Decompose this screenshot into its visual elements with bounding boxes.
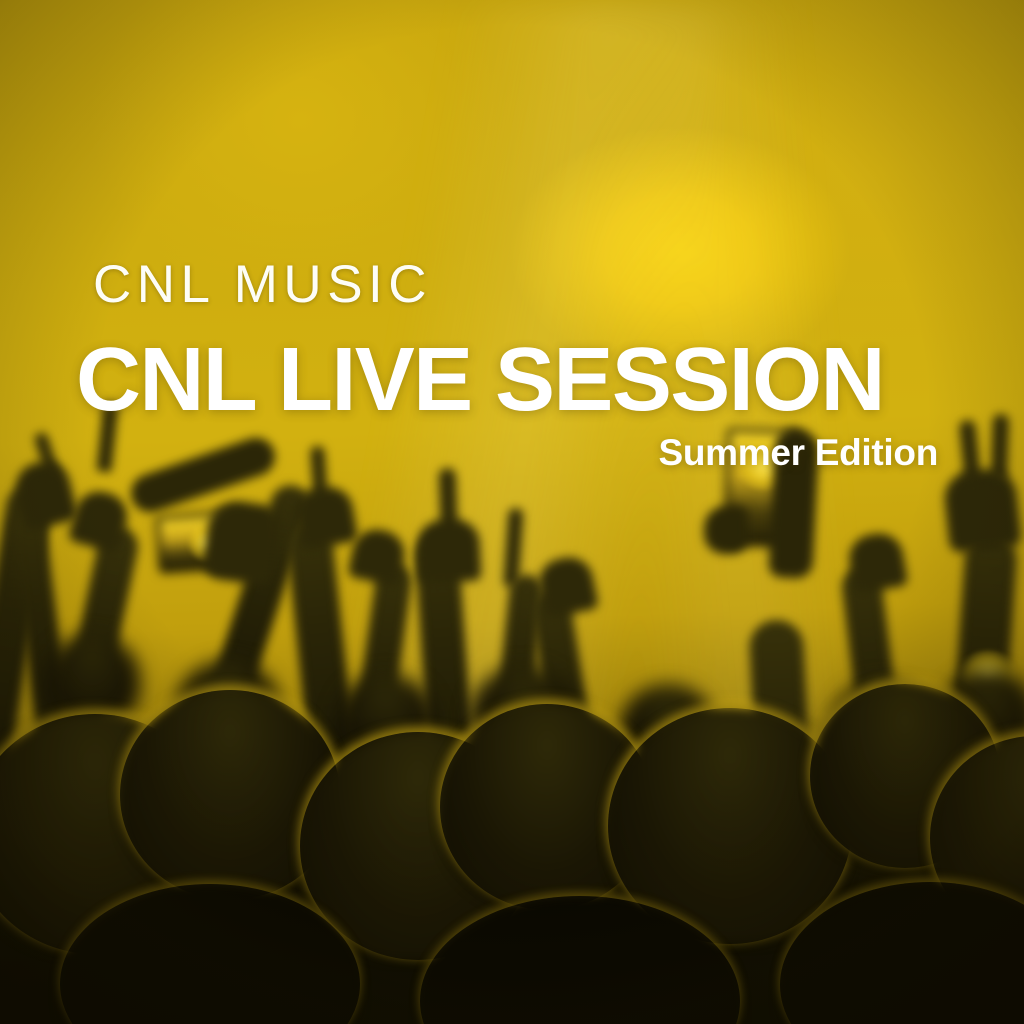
poster-canvas: CNL MUSIC CNL LIVE SESSION Summer Editio…: [0, 0, 1024, 1024]
vignette-overlay: [0, 0, 1024, 1024]
